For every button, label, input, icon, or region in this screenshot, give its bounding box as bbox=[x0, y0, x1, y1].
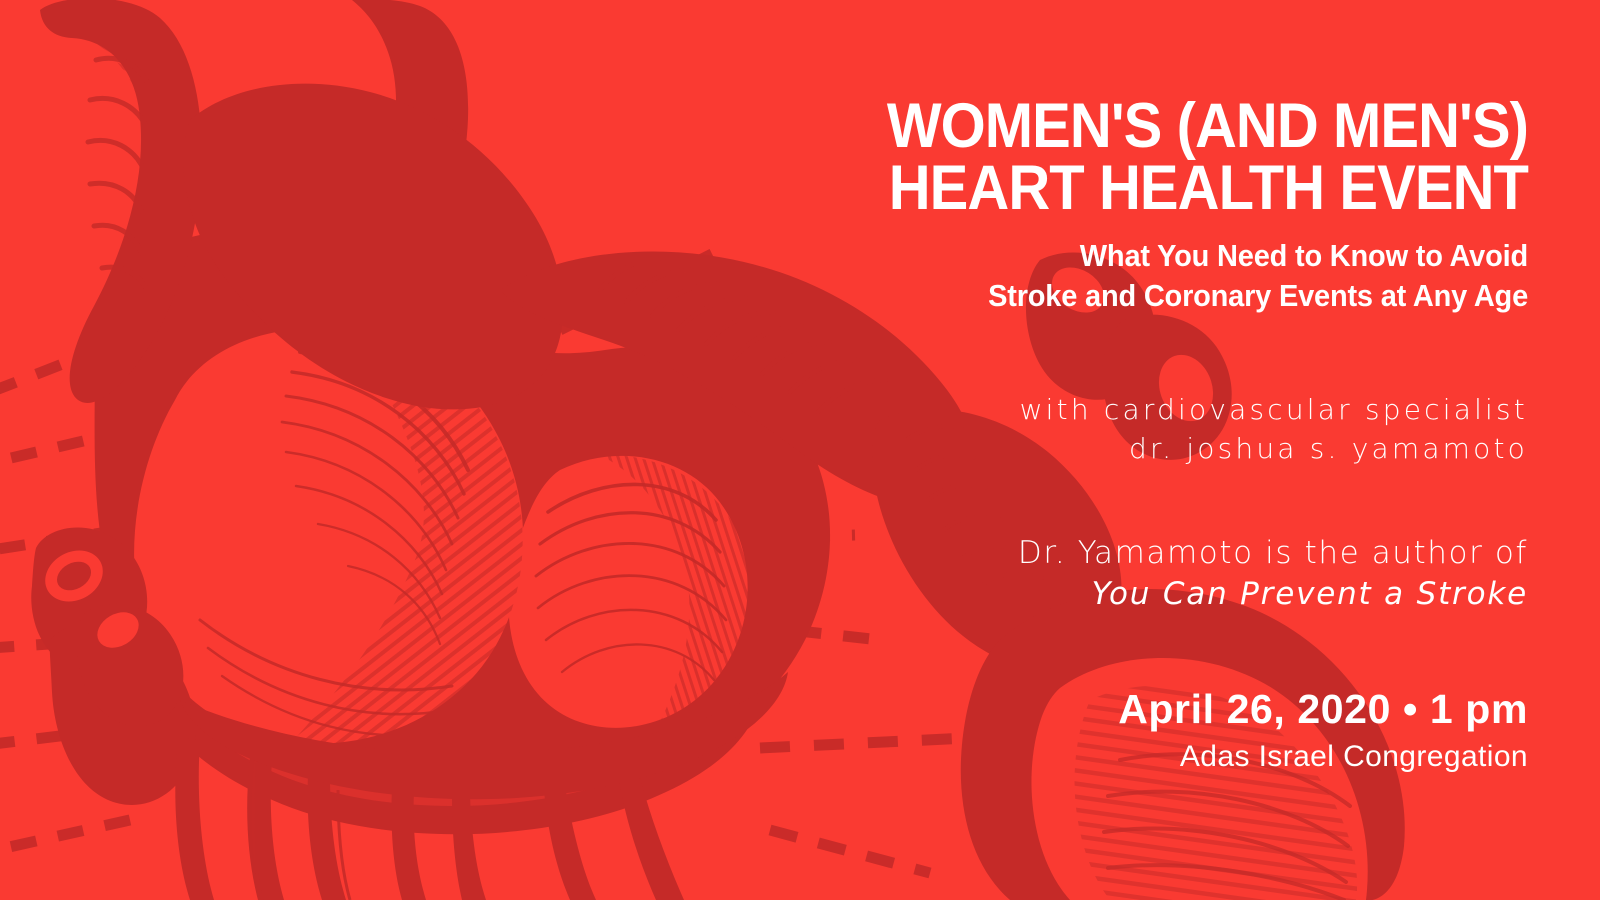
speaker-role-line: with cardiovascular specialist bbox=[738, 390, 1528, 430]
coronary-arteries bbox=[175, 738, 684, 900]
speaker-name-line: dr. joshua s. yamamoto bbox=[738, 429, 1528, 469]
book-title-line: You Can Prevent a Stroke bbox=[738, 574, 1528, 615]
title-line-1: WOMEN'S (AND MEN'S) bbox=[801, 96, 1528, 158]
author-credit: Dr. Yamamoto is the author of You Can Pr… bbox=[738, 533, 1528, 615]
lower-left-vessels bbox=[77, 604, 184, 727]
subtitle-line-1: What You Need to Know to Avoid bbox=[778, 237, 1529, 276]
event-when-where: April 26, 2020 • 1 pm Adas Israel Congre… bbox=[738, 687, 1528, 776]
title-line-2: HEART HEALTH EVENT bbox=[801, 158, 1528, 220]
poster-text-column: WOMEN'S (AND MEN'S) HEART HEALTH EVENT W… bbox=[738, 96, 1528, 775]
heart-body bbox=[95, 230, 830, 834]
author-intro-line: Dr. Yamamoto is the author of bbox=[738, 533, 1528, 574]
event-title: WOMEN'S (AND MEN'S) HEART HEALTH EVENT bbox=[738, 96, 1528, 219]
subtitle-line-2: Stroke and Coronary Events at Any Age bbox=[778, 277, 1529, 316]
speaker-credit: with cardiovascular specialist dr. joshu… bbox=[738, 390, 1528, 470]
event-poster: WOMEN'S (AND MEN'S) HEART HEALTH EVENT W… bbox=[0, 0, 1600, 900]
event-date-time: April 26, 2020 • 1 pm bbox=[738, 687, 1528, 733]
event-venue: Adas Israel Congregation bbox=[738, 739, 1528, 776]
event-subtitle: What You Need to Know to Avoid Stroke an… bbox=[738, 237, 1528, 315]
